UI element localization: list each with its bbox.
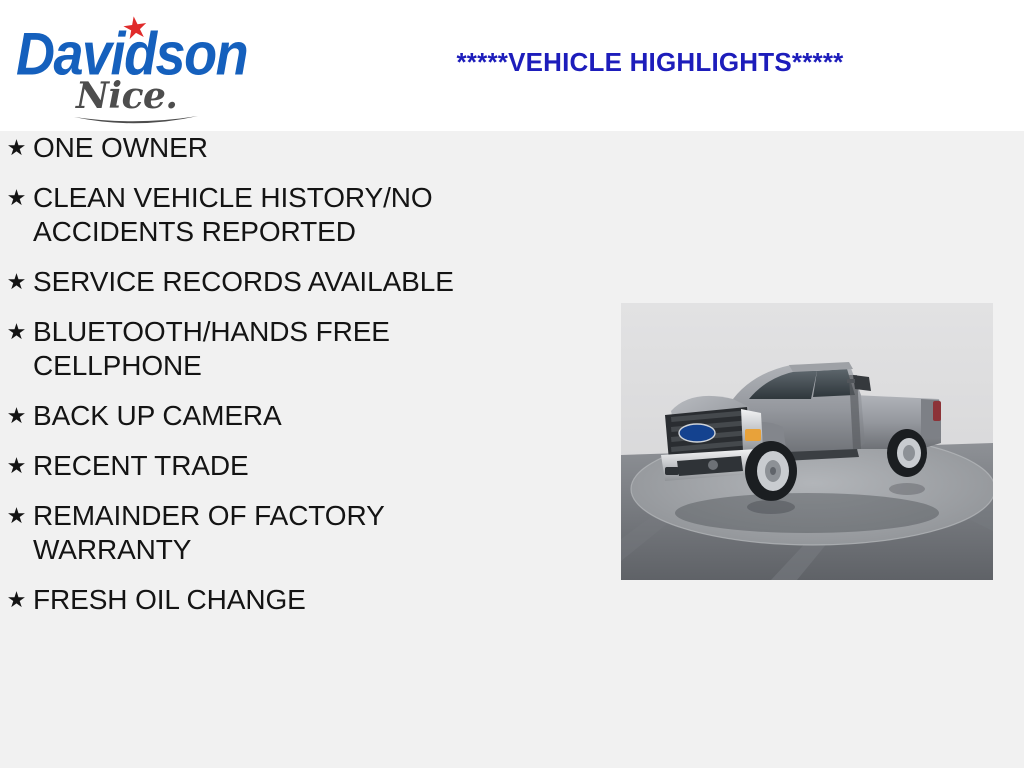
page-title: *****VEHICLE HIGHLIGHTS***** <box>300 47 1000 78</box>
list-item: ★ CLEAN VEHICLE HISTORY/NO ACCIDENTS REP… <box>0 181 560 249</box>
vehicle-photo[interactable] <box>621 303 993 580</box>
list-item-label: FRESH OIL CHANGE <box>33 583 478 617</box>
list-item-label: CLEAN VEHICLE HISTORY/NO ACCIDENTS REPOR… <box>33 181 478 249</box>
star-bullet-icon: ★ <box>0 315 33 349</box>
star-bullet-icon: ★ <box>0 265 33 299</box>
star-bullet-icon: ★ <box>0 181 33 215</box>
list-item: ★ BLUETOOTH/HANDS FREE CELLPHONE <box>0 315 560 383</box>
list-item-label: SERVICE RECORDS AVAILABLE <box>33 265 478 299</box>
dealer-logo[interactable]: Davidson ★ Nice. <box>10 8 270 123</box>
page-content: ★ ONE OWNER ★ CLEAN VEHICLE HISTORY/NO A… <box>0 131 1024 768</box>
list-item-label: BACK UP CAMERA <box>33 399 478 433</box>
page-header: Davidson ★ Nice. *****VEHICLE HIGHLIGHTS… <box>0 0 1024 131</box>
vehicle-highlights-page: Davidson ★ Nice. *****VEHICLE HIGHLIGHTS… <box>0 0 1024 768</box>
list-item-label: REMAINDER OF FACTORY WARRANTY <box>33 499 478 567</box>
list-item-label: RECENT TRADE <box>33 449 478 483</box>
list-item: ★ SERVICE RECORDS AVAILABLE <box>0 265 560 299</box>
ford-badge-icon <box>679 424 715 442</box>
list-item: ★ ONE OWNER <box>0 131 560 165</box>
star-bullet-icon: ★ <box>0 449 33 483</box>
star-bullet-icon: ★ <box>0 131 33 165</box>
list-item: ★ REMAINDER OF FACTORY WARRANTY <box>0 499 560 567</box>
list-item: ★ FRESH OIL CHANGE <box>0 583 560 617</box>
list-item: ★ BACK UP CAMERA <box>0 399 560 433</box>
list-item-label: ONE OWNER <box>33 131 478 165</box>
vehicle-highlights-list: ★ ONE OWNER ★ CLEAN VEHICLE HISTORY/NO A… <box>0 131 560 633</box>
dealer-logo-script: Nice. <box>76 78 177 114</box>
logo-swoosh-icon <box>72 114 200 128</box>
star-bullet-icon: ★ <box>0 583 33 617</box>
list-item-label: BLUETOOTH/HANDS FREE CELLPHONE <box>33 315 478 383</box>
star-bullet-icon: ★ <box>0 499 33 533</box>
star-bullet-icon: ★ <box>0 399 33 433</box>
list-item: ★ RECENT TRADE <box>0 449 560 483</box>
star-icon: ★ <box>120 12 151 45</box>
